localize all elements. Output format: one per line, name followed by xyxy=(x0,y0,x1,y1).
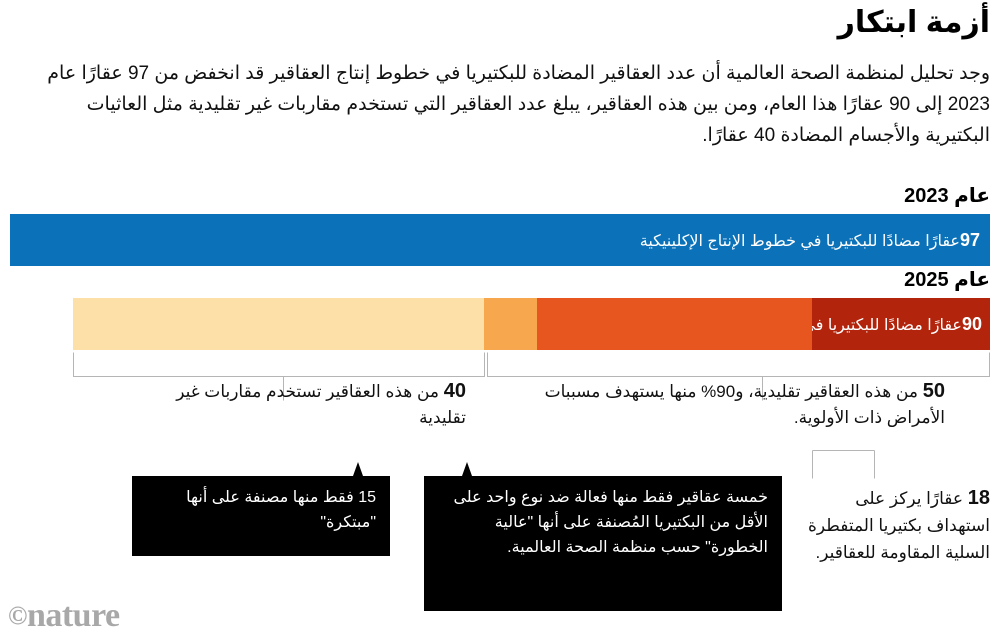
page-title: أزمة ابتكار xyxy=(30,4,990,42)
year-label-2023: عام 2023 xyxy=(904,183,990,208)
annotation-nontraditional-count: 40 xyxy=(444,380,466,402)
bar-2025-segment-divider xyxy=(484,298,537,350)
bar-2025-segment-gram-negative: 90عقارًا مضادًا للبكتيريا في خطوط الإنتا… xyxy=(812,298,990,350)
annotation-traditional-text: من هذه العقاقير تقليدية، و90% منها يستهد… xyxy=(545,382,945,427)
nature-wordmark: nature xyxy=(27,597,120,634)
bracket-nontraditional xyxy=(74,353,485,377)
annotation-nontraditional: 40 من هذه العقاقير تستخدم مقاربات غير تق… xyxy=(136,378,466,431)
bar-2023-caption-text: عقارًا مضادًا للبكتيريا في خطوط الإنتاج … xyxy=(640,233,960,250)
callout-innovative-text: 15 فقط منها مصنفة على أنها "مبتكرة" xyxy=(186,489,376,531)
standfirst-text: وجد تحليل لمنظمة الصحة العالمية أن عدد ا… xyxy=(32,58,990,151)
bar-2025-count: 90 xyxy=(962,314,982,334)
annotation-gram-negative-count: 18 xyxy=(968,487,990,509)
callout-critical-text: خمسة عقاقير فقط منها فعالة ضد نوع واحد ع… xyxy=(453,489,768,556)
copyright-symbol: © xyxy=(8,601,27,630)
infographic-canvas: أزمة ابتكار وجد تحليل لمنظمة الصحة العال… xyxy=(0,0,1000,639)
callout-critical: خمسة عقاقير فقط منها فعالة ضد نوع واحد ع… xyxy=(424,476,782,611)
bar-2023-count: 97 xyxy=(960,230,980,250)
bar-2025-segment-traditional xyxy=(537,298,812,350)
year-label-2025: عام 2025 xyxy=(904,267,990,292)
bar-2023: 97عقارًا مضادًا للبكتيريا في خطوط الإنتا… xyxy=(10,214,990,266)
annotation-gram-negative-text: عقارًا يركز على استهداف بكتيريا المتفطرة… xyxy=(808,489,990,562)
bracket-traditional xyxy=(488,353,990,377)
bar-2025: 90عقارًا مضادًا للبكتيريا في خطوط الإنتا… xyxy=(73,298,990,350)
bar-2023-caption: 97عقارًا مضادًا للبكتيريا في خطوط الإنتا… xyxy=(640,214,980,266)
annotation-gram-negative: 18 عقارًا يركز على استهداف بكتيريا المتف… xyxy=(808,485,990,566)
annotation-traditional: 50 من هذه العقاقير تقليدية، و90% منها يس… xyxy=(505,378,945,431)
callout-critical-pointer xyxy=(462,462,472,476)
bar-2025-segment-nontraditional xyxy=(73,298,484,350)
nature-logo: ©nature xyxy=(8,599,120,633)
annotation-nontraditional-text: من هذه العقاقير تستخدم مقاربات غير تقليد… xyxy=(176,382,466,427)
callout-innovative-pointer xyxy=(353,462,363,476)
callout-innovative: 15 فقط منها مصنفة على أنها "مبتكرة" xyxy=(132,476,390,556)
annotation-traditional-count: 50 xyxy=(923,380,945,402)
